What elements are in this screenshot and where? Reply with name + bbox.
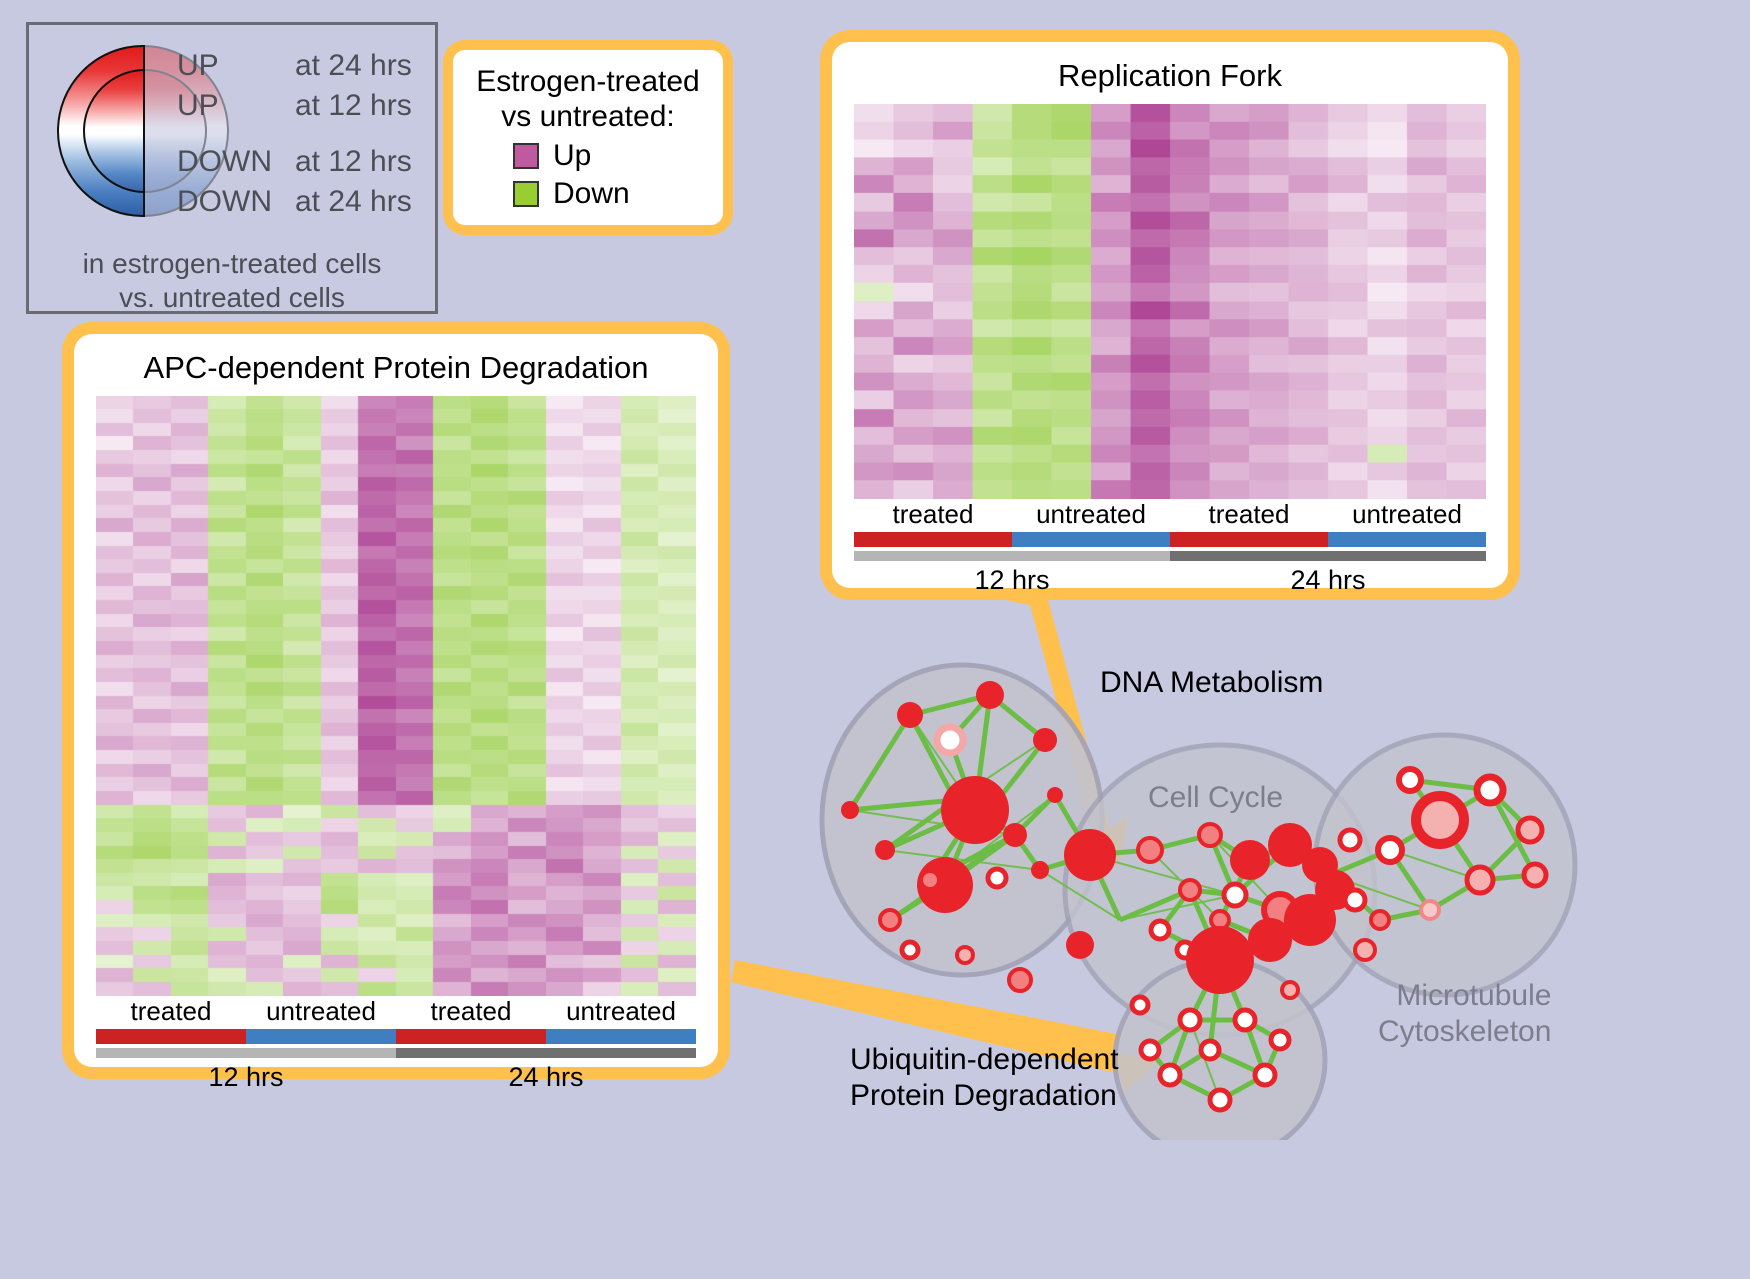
circle-legend-rows: UP at 24 hrs UP at 12 hrs DOWN at 12 hrs… (177, 49, 437, 225)
circle-legend-key: UP (177, 49, 295, 83)
cluster-label-microtubule-cytoskeleton: Microtubule Cytoskeleton (1378, 978, 1551, 1050)
circle-legend-row: DOWN at 24 hrs (177, 185, 437, 225)
panel-replication-fork-title: Replication Fork (854, 58, 1486, 94)
group-label: treated (96, 996, 246, 1027)
cluster-label-ubiquitin-degradation: Ubiquitin-dependent Protein Degradation (850, 1042, 1119, 1114)
circle-legend-caption: in estrogen-treated cells vs. untreated … (29, 247, 435, 315)
time-label: 24 hrs (396, 1062, 696, 1093)
apc-time-labels: 12 hrs 24 hrs (96, 1062, 696, 1093)
replication-axis: treated untreated treated untreated 12 h (854, 499, 1486, 596)
legend-item-down: Down (463, 177, 713, 211)
caption-line-1: in estrogen-treated cells (29, 247, 435, 281)
circle-legend-row: UP at 24 hrs (177, 49, 437, 89)
apc-group-labels: treated untreated treated untreated (96, 996, 696, 1027)
group-label: untreated (546, 996, 696, 1027)
time-label: 24 hrs (1170, 565, 1486, 596)
circle-legend-key: DOWN (177, 145, 295, 179)
updown-legend-card: Estrogen-treated vs untreated: Up Down (443, 40, 733, 235)
circle-legend-value: at 24 hrs (295, 185, 412, 219)
group-bar-untreated-24 (546, 1029, 696, 1044)
apc-group-bars (96, 1029, 696, 1044)
up-swatch-icon (513, 143, 539, 169)
cluster-label-dna-metabolism: DNA Metabolism (1100, 665, 1323, 701)
group-label: untreated (1328, 499, 1486, 530)
updown-legend-title: Estrogen-treated vs untreated: (463, 64, 713, 135)
circle-legend-key: UP (177, 89, 295, 123)
replication-group-bars (854, 532, 1486, 547)
down-swatch-icon (513, 181, 539, 207)
group-label: treated (396, 996, 546, 1027)
updown-title-line-2: vs untreated: (463, 99, 713, 134)
group-bar-untreated-12 (1012, 532, 1170, 547)
ring-divider-icon (143, 45, 145, 217)
figure-canvas: UP at 24 hrs UP at 12 hrs DOWN at 12 hrs… (0, 0, 1750, 1279)
panel-replication-fork: Replication Fork treated untreated treat… (820, 30, 1520, 600)
ubiquitin-line-1: Ubiquitin-dependent (850, 1042, 1119, 1078)
cluster-label-cell-cycle: Cell Cycle (1148, 780, 1283, 816)
circle-legend-panel: UP at 24 hrs UP at 12 hrs DOWN at 12 hrs… (26, 22, 438, 314)
time-bar-12hrs (96, 1048, 396, 1058)
group-bar-untreated-24 (1328, 532, 1486, 547)
replication-time-bars (854, 551, 1486, 561)
group-bar-untreated-12 (246, 1029, 396, 1044)
time-label: 12 hrs (96, 1062, 396, 1093)
microtubule-line-1: Microtubule (1378, 978, 1551, 1014)
time-bar-24hrs (1170, 551, 1486, 561)
circle-legend-value: at 12 hrs (295, 89, 412, 123)
group-bar-treated-12 (854, 532, 1012, 547)
group-bar-treated-24 (1170, 532, 1328, 547)
replication-time-labels: 12 hrs 24 hrs (854, 565, 1486, 596)
time-bar-24hrs (396, 1048, 696, 1058)
panel-apc-degradation: APC-dependent Protein Degradation treate… (62, 322, 730, 1079)
group-label: treated (854, 499, 1012, 530)
circle-legend-key: DOWN (177, 185, 295, 219)
heatmap-apc-degradation (96, 396, 696, 996)
group-label: untreated (1012, 499, 1170, 530)
circle-legend-value: at 24 hrs (295, 49, 412, 83)
panel-apc-degradation-inner: APC-dependent Protein Degradation treate… (74, 334, 718, 1067)
updown-title-line-1: Estrogen-treated (463, 64, 713, 99)
updown-legend-inner: Estrogen-treated vs untreated: Up Down (453, 50, 723, 225)
panel-replication-fork-inner: Replication Fork treated untreated treat… (832, 42, 1508, 588)
circle-legend-row: UP at 12 hrs (177, 89, 437, 145)
caption-line-2: vs. untreated cells (29, 281, 435, 315)
apc-axis: treated untreated treated untreated 12 h (96, 996, 696, 1093)
legend-item-down-label: Down (553, 177, 663, 211)
heatmap-replication-fork (854, 104, 1486, 499)
group-label: treated (1170, 499, 1328, 530)
group-bar-treated-24 (396, 1029, 546, 1044)
time-label: 12 hrs (854, 565, 1170, 596)
group-bar-treated-12 (96, 1029, 246, 1044)
ubiquitin-line-2: Protein Degradation (850, 1078, 1119, 1114)
group-label: untreated (246, 996, 396, 1027)
circle-legend-value: at 12 hrs (295, 145, 412, 179)
legend-item-up: Up (463, 139, 713, 173)
microtubule-line-2: Cytoskeleton (1378, 1014, 1551, 1050)
time-bar-12hrs (854, 551, 1170, 561)
replication-group-labels: treated untreated treated untreated (854, 499, 1486, 530)
circle-legend-row: DOWN at 12 hrs (177, 145, 437, 185)
legend-item-up-label: Up (553, 139, 663, 173)
apc-time-bars (96, 1048, 696, 1058)
panel-apc-degradation-title: APC-dependent Protein Degradation (96, 350, 696, 386)
